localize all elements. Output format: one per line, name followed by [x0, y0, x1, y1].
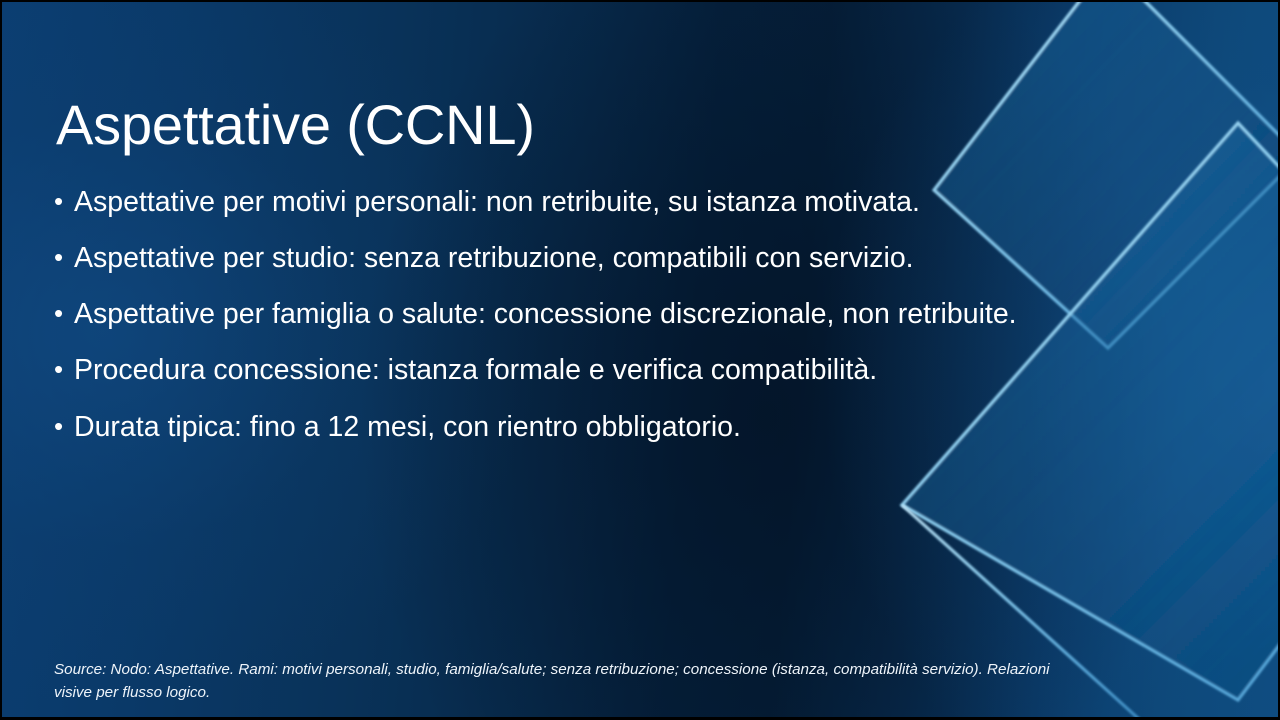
- presentation-slide: Aspettative (CCNL) • Aspettative per mot…: [0, 0, 1280, 720]
- slide-content: Aspettative (CCNL) • Aspettative per mot…: [0, 0, 1280, 720]
- bullet-text: Aspettative per studio: senza retribuzio…: [74, 242, 914, 276]
- frame-edge-left: [0, 0, 2, 720]
- source-note: Source: Nodo: Aspettative. Rami: motivi …: [54, 658, 1054, 704]
- bullet-text: Aspettative per motivi personali: non re…: [74, 186, 920, 220]
- frame-edge-top: [0, 0, 1280, 2]
- list-item: • Procedura concessione: istanza formale…: [54, 354, 1174, 388]
- bullet-marker-icon: •: [54, 298, 74, 329]
- bullet-text: Procedura concessione: istanza formale e…: [74, 354, 877, 388]
- bullet-marker-icon: •: [54, 186, 74, 217]
- list-item: • Aspettative per motivi personali: non …: [54, 186, 1174, 220]
- bullet-marker-icon: •: [54, 354, 74, 385]
- bullet-text: Durata tipica: fino a 12 mesi, con rient…: [74, 411, 741, 445]
- list-item: • Durata tipica: fino a 12 mesi, con rie…: [54, 411, 1174, 445]
- list-item: • Aspettative per famiglia o salute: con…: [54, 298, 1174, 332]
- bullet-marker-icon: •: [54, 411, 74, 442]
- bullet-text: Aspettative per famiglia o salute: conce…: [74, 298, 1017, 332]
- bullet-marker-icon: •: [54, 242, 74, 273]
- bullet-list: • Aspettative per motivi personali: non …: [54, 186, 1174, 467]
- page-title: Aspettative (CCNL): [56, 94, 1136, 157]
- list-item: • Aspettative per studio: senza retribuz…: [54, 242, 1174, 276]
